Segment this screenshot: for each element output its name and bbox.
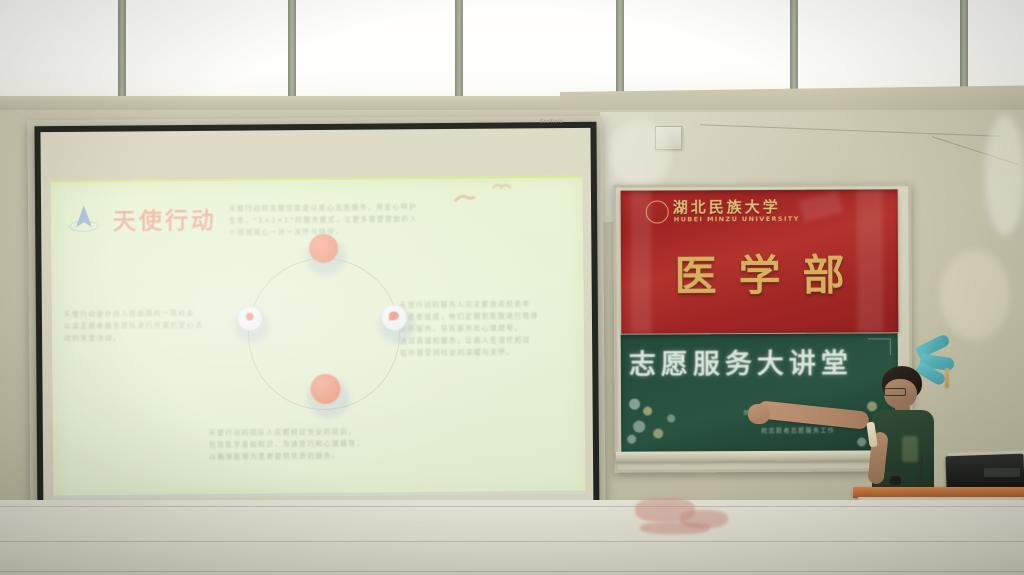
wall-smudge [610, 120, 670, 190]
chalk-flower-decoration [653, 429, 663, 439]
chalk-flower-decoration [627, 435, 636, 444]
chalkboard-title: 志愿服务大讲堂 [629, 341, 891, 381]
wall-smudge [940, 250, 1010, 340]
university-banner: 湖北民族大学 HUBEI MINZU UNIVERSITY 医学部 [621, 189, 899, 333]
wall-red-marking [640, 522, 710, 534]
university-crest-icon [646, 200, 669, 223]
chalk-flower-decoration [633, 421, 645, 433]
window-mullion [288, 0, 296, 100]
window-mullion [455, 0, 463, 100]
window-mullion [616, 0, 624, 96]
chalk-flower-decoration [667, 414, 675, 422]
window-mullion [790, 0, 798, 95]
projected-slide: 天使行动 天使行动的主要宗旨是以爱心志愿服务，用爱心呵护 生命，“1+1+1”的… [50, 175, 585, 498]
wall-seam [0, 506, 1024, 507]
glasses-icon [884, 388, 906, 396]
chalk-flower-decoration [643, 407, 652, 416]
shirt-print [902, 436, 918, 462]
banner-university-name-en: HUBEI MINZU UNIVERSITY [674, 215, 800, 224]
chalk-flower-decoration [629, 399, 640, 410]
monitor-control-strip[interactable] [984, 468, 1020, 477]
window-mullion [118, 0, 126, 100]
lower-wall [0, 500, 1024, 575]
wall-smudge [985, 115, 1024, 235]
chalkboard-subtext-2: 校志愿者志愿服务工作 [761, 426, 835, 435]
wristwatch-icon [890, 476, 901, 485]
screen-brand-label: Scofield [540, 119, 563, 125]
hanging-tassel [945, 368, 949, 388]
wall-seam [0, 571, 1024, 572]
window-mullion [960, 0, 968, 94]
banner-fold [799, 191, 843, 222]
wall-seam [0, 541, 1024, 542]
slide-light-wash [50, 175, 585, 498]
lecture-hall-scene: Scofield 天使行动 天使行动的主要宗旨是以爱心志愿服务，用爱心呵护 生命… [0, 0, 1024, 575]
chalkboard: 志愿服务大讲堂 共青团 校志愿者志愿服务工作 [621, 333, 899, 452]
banner-department-name: 医学部 [621, 241, 898, 303]
presenter-pointing-hand [748, 404, 770, 424]
